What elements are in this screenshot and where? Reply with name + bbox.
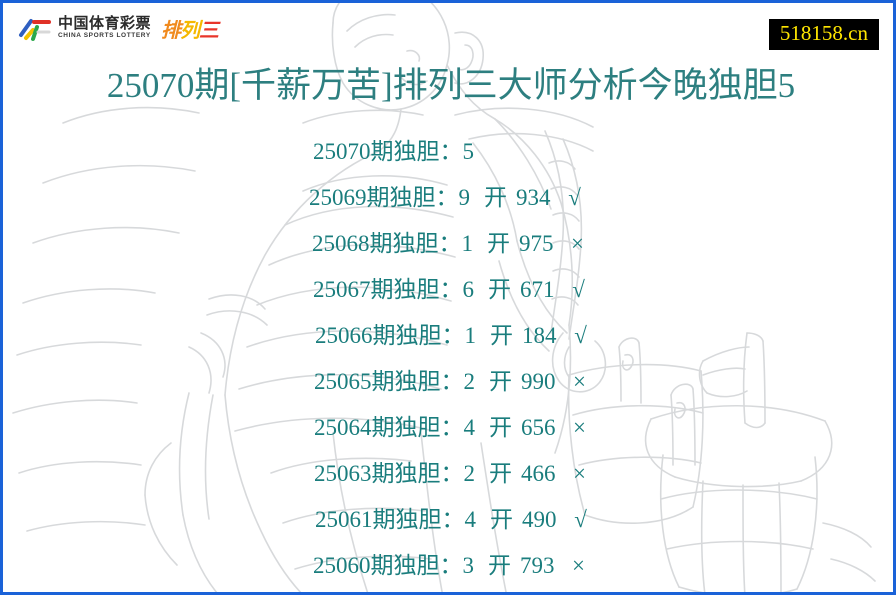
game-name-pailiesan: 排列三 <box>161 14 218 43</box>
row-dan-number: 1 <box>462 221 474 267</box>
brand-name-cn: 中国体育彩票 <box>58 16 151 31</box>
row-dan-number: 2 <box>464 451 476 497</box>
prediction-row: 25064期独胆：4开656× <box>3 405 896 451</box>
row-opened-number: 975 <box>519 221 554 267</box>
row-dan-number: 2 <box>464 359 476 405</box>
prediction-history-list: 25070期独胆：525069期独胆：9开934√25068期独胆：1开975×… <box>3 129 896 589</box>
row-period: 25065期独胆： <box>314 359 464 405</box>
row-period: 25064期独胆： <box>314 405 464 451</box>
row-opened-number: 793 <box>520 543 555 589</box>
result-miss-icon: × <box>568 221 588 267</box>
prediction-row: 25061期独胆：4开490√ <box>3 497 896 543</box>
row-dan-number: 6 <box>463 267 475 313</box>
row-open-label: 开 <box>490 313 513 359</box>
row-open-label: 开 <box>490 497 513 543</box>
row-period: 25068期独胆： <box>312 221 462 267</box>
prediction-row: 25063期独胆：2开466× <box>3 451 896 497</box>
lottery-analysis-image: 中国体育彩票 CHINA SPORTS LOTTERY 排列三 518158.c… <box>0 0 896 595</box>
page-header: 中国体育彩票 CHINA SPORTS LOTTERY 排列三 518158.c… <box>3 3 896 55</box>
row-opened-number: 466 <box>521 451 556 497</box>
result-miss-icon: × <box>570 359 590 405</box>
result-miss-icon: × <box>569 543 589 589</box>
row-dan-number: 4 <box>464 405 476 451</box>
row-period: 25063期独胆： <box>314 451 464 497</box>
result-miss-icon: × <box>570 451 590 497</box>
row-period: 25060期独胆： <box>313 543 463 589</box>
row-open-label: 开 <box>488 267 511 313</box>
prediction-row: 25067期独胆：6开671√ <box>3 267 896 313</box>
row-period: 25070期独胆： <box>313 129 463 175</box>
row-open-label: 开 <box>487 221 510 267</box>
row-open-label: 开 <box>484 175 507 221</box>
prediction-row: 25066期独胆：1开184√ <box>3 313 896 359</box>
row-dan-number: 5 <box>463 129 475 175</box>
result-hit-icon: √ <box>571 497 591 543</box>
result-miss-icon: × <box>570 405 590 451</box>
row-opened-number: 490 <box>522 497 557 543</box>
prediction-row: 25069期独胆：9开934√ <box>3 175 896 221</box>
prediction-row: 25070期独胆：5 <box>3 129 896 175</box>
row-period: 25067期独胆： <box>313 267 463 313</box>
brand-logo: 中国体育彩票 CHINA SPORTS LOTTERY 排列三 <box>18 10 218 46</box>
row-open-label: 开 <box>489 451 512 497</box>
row-open-label: 开 <box>488 543 511 589</box>
result-hit-icon: √ <box>571 313 591 359</box>
row-open-label: 开 <box>489 405 512 451</box>
site-watermark: 518158.cn <box>769 19 879 50</box>
brand-logo-text: 中国体育彩票 CHINA SPORTS LOTTERY <box>58 16 151 40</box>
prediction-row: 25065期独胆：2开990× <box>3 359 896 405</box>
prediction-row: 25068期独胆：1开975× <box>3 221 896 267</box>
row-dan-number: 4 <box>465 497 477 543</box>
result-hit-icon: √ <box>565 175 585 221</box>
row-opened-number: 671 <box>520 267 555 313</box>
row-opened-number: 656 <box>521 405 556 451</box>
page-title: 25070期[千薪万苦]排列三大师分析今晚独胆5 <box>3 63 896 109</box>
row-dan-number: 3 <box>463 543 475 589</box>
row-period: 25066期独胆： <box>315 313 465 359</box>
row-period: 25061期独胆： <box>315 497 465 543</box>
prediction-row: 25060期独胆：3开793× <box>3 543 896 589</box>
row-open-label: 开 <box>489 359 512 405</box>
game-char-1: 排 <box>161 18 180 42</box>
game-char-2: 列 <box>180 18 199 42</box>
row-dan-number: 1 <box>465 313 477 359</box>
sports-lottery-logo-icon <box>18 13 52 43</box>
result-hit-icon: √ <box>569 267 589 313</box>
brand-name-en: CHINA SPORTS LOTTERY <box>58 33 151 40</box>
row-dan-number: 9 <box>459 175 471 221</box>
row-opened-number: 184 <box>522 313 557 359</box>
row-opened-number: 990 <box>521 359 556 405</box>
game-char-3: 三 <box>199 18 218 42</box>
row-period: 25069期独胆： <box>309 175 459 221</box>
row-opened-number: 934 <box>516 175 551 221</box>
